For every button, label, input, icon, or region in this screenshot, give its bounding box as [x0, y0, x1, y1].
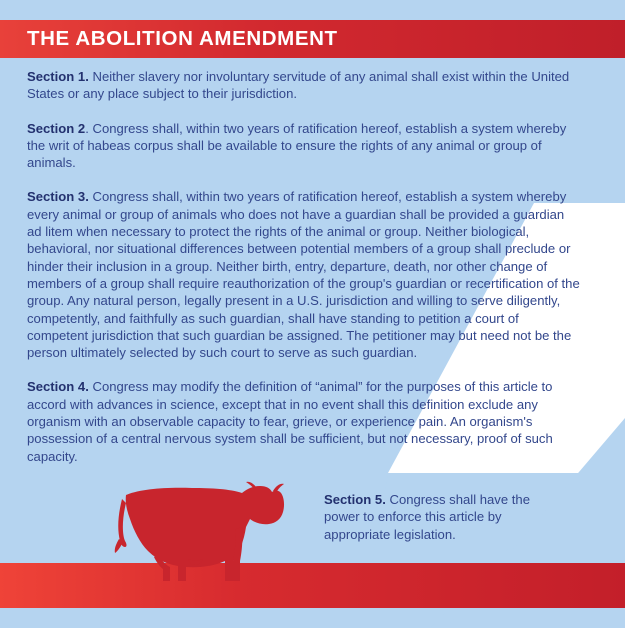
section-2-label: Section 2	[27, 121, 85, 136]
section-2-paragraph: Section 2. Congress shall, within two ye…	[27, 120, 587, 172]
section-2-body: . Congress shall, within two years of ra…	[27, 121, 566, 171]
page-title: THE ABOLITION AMENDMENT	[0, 29, 338, 50]
section-4-body: Congress may modify the definition of “a…	[27, 379, 553, 463]
section-5-label: Section 5.	[324, 492, 386, 507]
footer-band	[0, 563, 625, 608]
section-1-label: Section 1.	[27, 69, 89, 84]
section-5-paragraph: Section 5. Congress shall have the power…	[324, 491, 544, 543]
section-3-label: Section 3.	[27, 189, 89, 204]
section-1-paragraph: Section 1. Neither slavery nor involunta…	[27, 68, 587, 103]
section-1-body: Neither slavery nor involuntary servitud…	[27, 69, 569, 101]
header-band: THE ABOLITION AMENDMENT	[0, 20, 625, 58]
poster-canvas: THE ABOLITION AMENDMENT Section 1. Neith…	[0, 0, 625, 628]
amendment-text-body: Section 1. Neither slavery nor involunta…	[27, 68, 587, 465]
cow-silhouette-icon	[96, 481, 296, 591]
section-4-label: Section 4.	[27, 379, 89, 394]
cow-illustration	[96, 481, 296, 591]
section-4-paragraph: Section 4. Congress may modify the defin…	[27, 378, 583, 464]
section-3-paragraph: Section 3. Congress shall, within two ye…	[27, 188, 580, 361]
section-3-body: Congress shall, within two years of rati…	[27, 189, 580, 360]
